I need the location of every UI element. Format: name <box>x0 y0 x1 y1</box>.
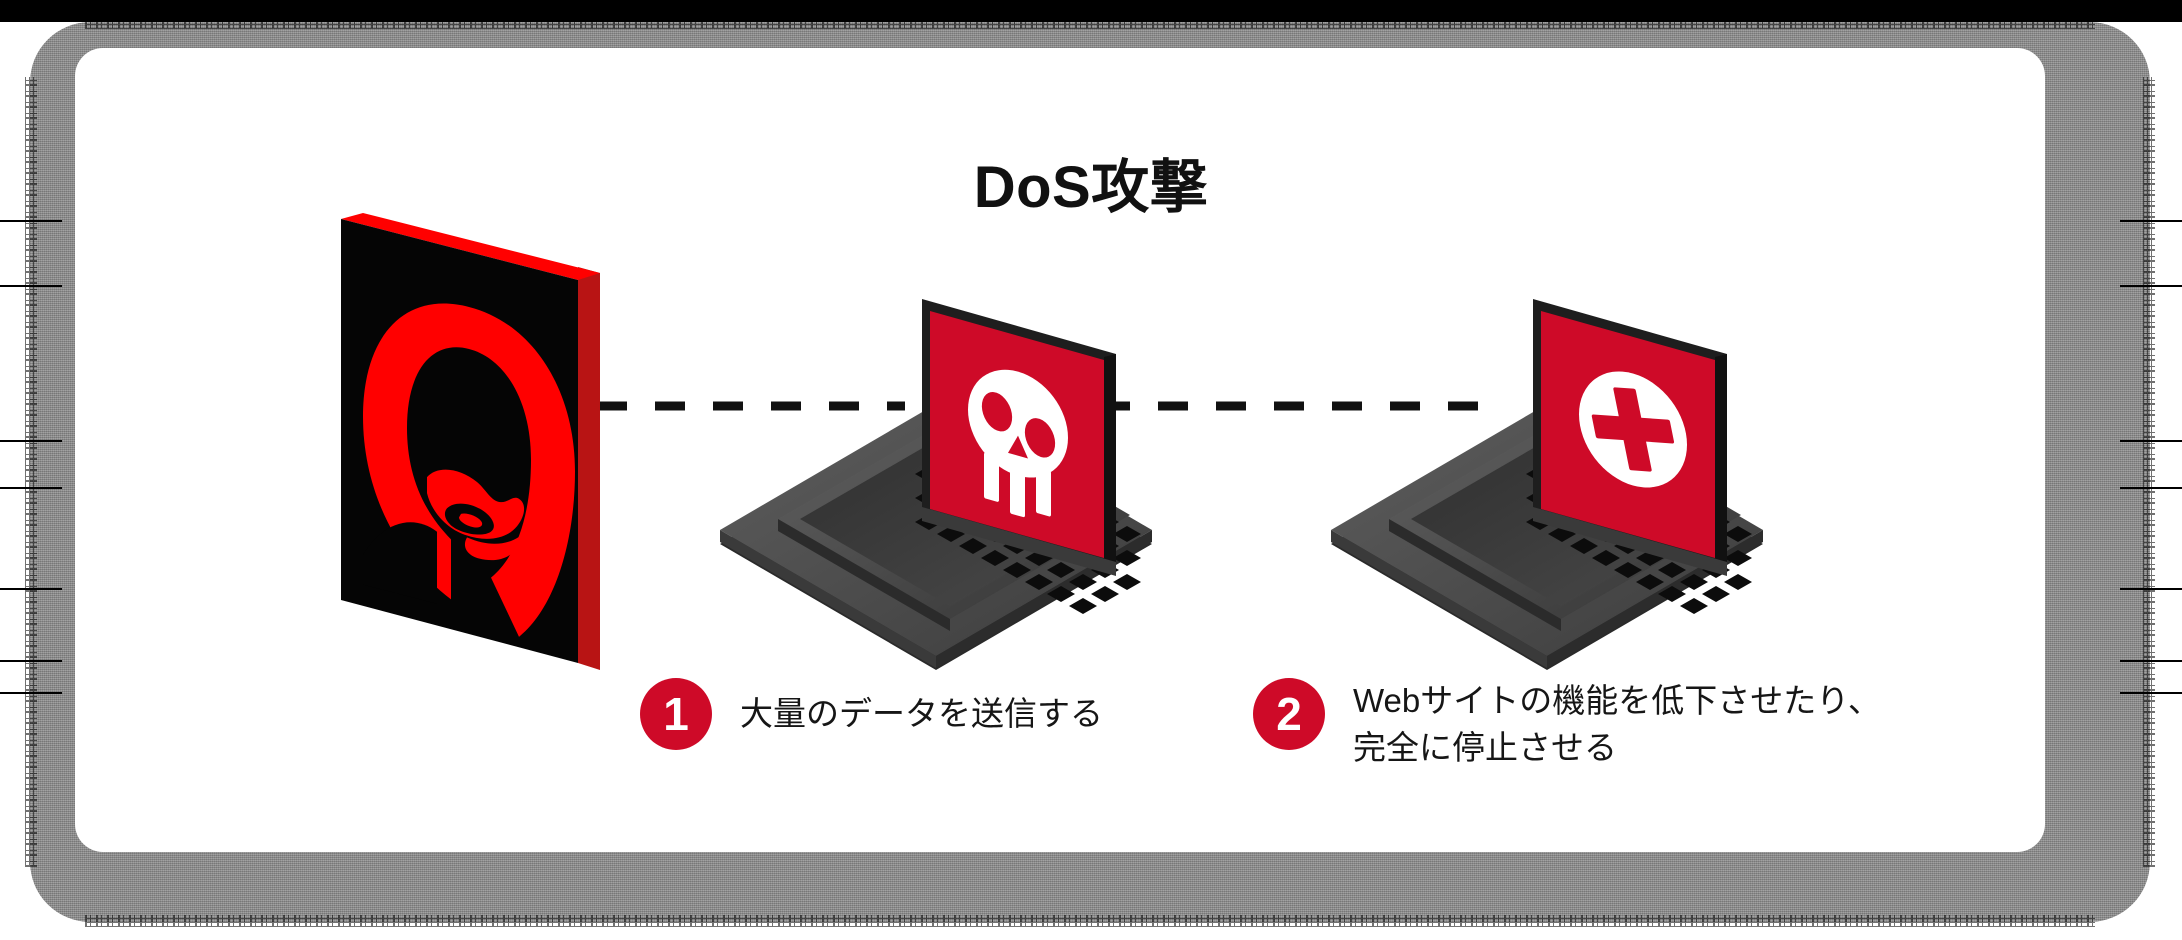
edge-tick-left-4 <box>0 487 62 489</box>
edge-tick-right-6 <box>2120 660 2182 662</box>
step-1: 1 大量のデータを送信する <box>640 678 1103 750</box>
edge-tick-right-2 <box>2120 285 2182 287</box>
top-black-bar <box>0 0 2182 22</box>
edge-tick-right-4 <box>2120 487 2182 489</box>
edge-tick-right-3 <box>2120 440 2182 442</box>
edge-tick-left-2 <box>0 285 62 287</box>
step-badge-1: 1 <box>640 678 712 750</box>
step-2: 2 Webサイトの機能を低下させたり、 完全に停止させる <box>1253 678 1881 772</box>
edge-tick-right-5 <box>2120 588 2182 590</box>
edge-tick-right-7 <box>2120 692 2182 694</box>
edge-tick-left-6 <box>0 660 62 662</box>
step-label-2: Webサイトの機能を低下させたり、 完全に停止させる <box>1353 678 1881 772</box>
edge-tick-left-7 <box>0 692 62 694</box>
edge-tick-left-5 <box>0 588 62 590</box>
edge-tick-left-3 <box>0 440 62 442</box>
page-title: DoS攻撃 <box>0 140 2182 224</box>
step-label-1: 大量のデータを送信する <box>740 678 1103 738</box>
step-badge-2: 2 <box>1253 678 1325 750</box>
